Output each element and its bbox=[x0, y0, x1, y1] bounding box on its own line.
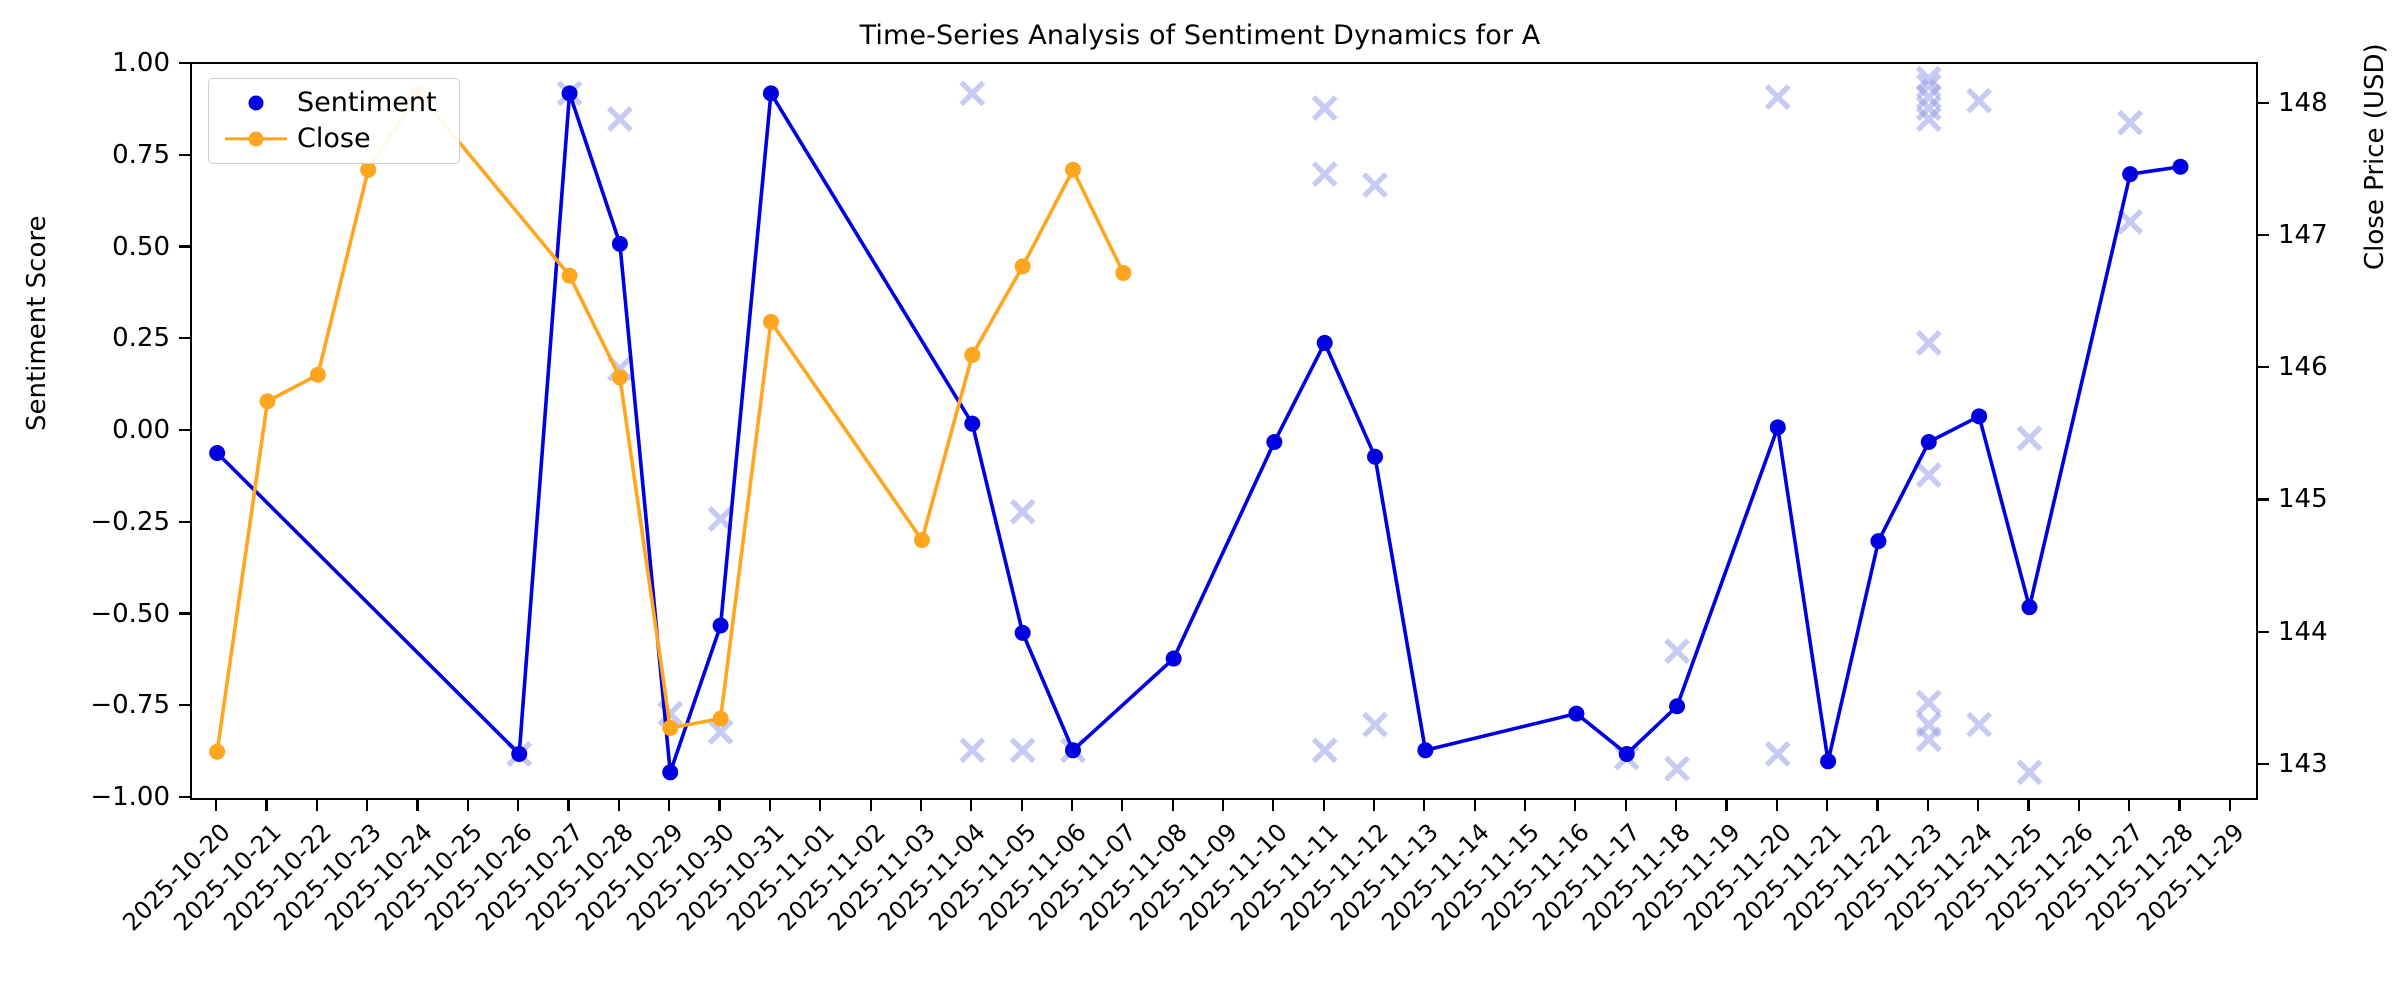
scatter-x-marker bbox=[2018, 427, 2040, 449]
scatter-x-marker bbox=[961, 82, 983, 104]
y-tick-mark-right bbox=[2258, 234, 2269, 236]
x-tick-mark bbox=[1373, 800, 1375, 811]
y-tick-label-left: −0.25 bbox=[30, 507, 170, 537]
scatter-x-marker bbox=[1666, 640, 1688, 662]
data-point-marker bbox=[1870, 533, 1886, 549]
x-tick-mark bbox=[567, 800, 569, 811]
data-point-marker bbox=[360, 162, 376, 178]
x-tick-mark bbox=[1625, 800, 1627, 811]
data-point-marker bbox=[1266, 434, 1282, 450]
x-tick-mark bbox=[1474, 800, 1476, 811]
y-tick-mark-right bbox=[2258, 366, 2269, 368]
data-point-marker bbox=[1417, 742, 1433, 758]
data-point-marker bbox=[2021, 599, 2037, 615]
scatter-x-marker bbox=[1364, 174, 1386, 196]
x-tick-mark bbox=[2128, 800, 2130, 811]
data-point-marker bbox=[562, 85, 578, 101]
legend-key-close bbox=[225, 127, 287, 151]
data-point-marker bbox=[2122, 166, 2138, 182]
x-tick-mark bbox=[618, 800, 620, 811]
x-tick-mark bbox=[1524, 800, 1526, 811]
data-point-marker bbox=[914, 532, 930, 548]
x-tick-mark bbox=[1574, 800, 1576, 811]
y-tick-label-right: 145 bbox=[2278, 484, 2328, 514]
x-tick-mark bbox=[366, 800, 368, 811]
x-tick-mark bbox=[2229, 800, 2231, 811]
x-tick-mark bbox=[316, 800, 318, 811]
y-tick-mark-left bbox=[179, 612, 190, 614]
data-point-marker bbox=[1317, 335, 1333, 351]
circle-marker-icon bbox=[249, 131, 264, 146]
y-tick-mark-left bbox=[179, 521, 190, 523]
scatter-x-marker bbox=[1666, 758, 1688, 780]
data-point-marker bbox=[2172, 159, 2188, 175]
y-axis-right-label: Close Price (USD) bbox=[2360, 43, 2390, 270]
x-tick-mark bbox=[1172, 800, 1174, 811]
x-tick-mark bbox=[215, 800, 217, 811]
scatter-x-marker bbox=[1012, 739, 1034, 761]
y-tick-label-right: 146 bbox=[2278, 352, 2328, 382]
scatter-x-marker bbox=[1314, 739, 1336, 761]
x-tick-mark bbox=[1876, 800, 1878, 811]
scatter-x-marker bbox=[1918, 692, 1940, 714]
data-point-marker bbox=[662, 764, 678, 780]
y-tick-mark-right bbox=[2258, 631, 2269, 633]
page-title: Time-Series Analysis of Sentiment Dynami… bbox=[0, 20, 2400, 51]
x-tick-mark bbox=[1222, 800, 1224, 811]
data-point-marker bbox=[1770, 419, 1786, 435]
data-point-marker bbox=[209, 744, 225, 760]
x-tick-mark bbox=[668, 800, 670, 811]
data-point-marker bbox=[1065, 162, 1081, 178]
x-tick-mark bbox=[1121, 800, 1123, 811]
legend-key-sentiment bbox=[225, 91, 287, 115]
scatter-x-marker bbox=[1767, 743, 1789, 765]
circle-marker-icon bbox=[249, 95, 264, 110]
scatter-x-marker bbox=[1314, 163, 1336, 185]
x-tick-mark bbox=[819, 800, 821, 811]
scatter-x-marker bbox=[1968, 90, 1990, 112]
y-tick-label-left: 1.00 bbox=[30, 48, 170, 78]
data-point-marker bbox=[713, 618, 729, 634]
data-point-marker bbox=[1669, 698, 1685, 714]
data-point-marker bbox=[1568, 706, 1584, 722]
y-tick-mark-left bbox=[179, 704, 190, 706]
scatter-x-marker bbox=[1918, 332, 1940, 354]
y-tick-label-left: 0.00 bbox=[30, 415, 170, 445]
legend-item-close[interactable]: Close bbox=[225, 125, 437, 152]
x-tick-mark bbox=[1272, 800, 1274, 811]
scatter-x-marker bbox=[1918, 728, 1940, 750]
legend-item-sentiment[interactable]: Sentiment bbox=[225, 89, 437, 116]
x-tick-mark bbox=[1776, 800, 1778, 811]
data-point-marker bbox=[964, 416, 980, 432]
scatter-x-marker bbox=[961, 739, 983, 761]
data-point-marker bbox=[1065, 742, 1081, 758]
line-series-close bbox=[209, 85, 1131, 760]
y-tick-label-left: 0.75 bbox=[30, 140, 170, 170]
x-tick-mark bbox=[467, 800, 469, 811]
data-point-marker bbox=[511, 746, 527, 762]
x-tick-mark bbox=[416, 800, 418, 811]
scatter-x-marker bbox=[1968, 714, 1990, 736]
x-tick-mark bbox=[2078, 800, 2080, 811]
data-point-marker bbox=[1619, 746, 1635, 762]
x-tick-mark bbox=[1826, 800, 1828, 811]
data-point-marker bbox=[1115, 265, 1131, 281]
x-tick-mark bbox=[769, 800, 771, 811]
y-tick-mark-left bbox=[179, 796, 190, 798]
data-point-marker bbox=[964, 347, 980, 363]
x-tick-mark bbox=[870, 800, 872, 811]
x-tick-mark bbox=[1725, 800, 1727, 811]
scatter-series-observations bbox=[508, 68, 2141, 784]
series-line bbox=[217, 93, 2180, 772]
x-tick-mark bbox=[970, 800, 972, 811]
y-tick-label-right: 147 bbox=[2278, 220, 2328, 250]
data-point-marker bbox=[209, 445, 225, 461]
x-tick-mark bbox=[1071, 800, 1073, 811]
data-point-marker bbox=[1166, 651, 1182, 667]
data-point-marker bbox=[1921, 434, 1937, 450]
y-tick-mark-left bbox=[179, 154, 190, 156]
scatter-x-marker bbox=[1314, 97, 1336, 119]
x-tick-mark bbox=[1977, 800, 1979, 811]
line-series-sentiment bbox=[209, 85, 2188, 780]
scatter-x-marker bbox=[1918, 464, 1940, 486]
data-point-marker bbox=[562, 268, 578, 284]
y-tick-label-left: −1.00 bbox=[30, 782, 170, 812]
x-tick-mark bbox=[920, 800, 922, 811]
y-tick-label-left: 0.50 bbox=[30, 232, 170, 262]
scatter-x-marker bbox=[1364, 714, 1386, 736]
data-point-marker bbox=[612, 236, 628, 252]
data-point-marker bbox=[1971, 408, 1987, 424]
y-tick-label-right: 144 bbox=[2278, 617, 2328, 647]
series-line bbox=[217, 93, 1123, 752]
x-tick-mark bbox=[2178, 800, 2180, 811]
data-point-marker bbox=[1015, 258, 1031, 274]
y-tick-label-right: 148 bbox=[2278, 88, 2328, 118]
x-tick-mark bbox=[1927, 800, 1929, 811]
x-tick-mark bbox=[718, 800, 720, 811]
y-tick-mark-right bbox=[2258, 498, 2269, 500]
legend-label-close: Close bbox=[297, 125, 371, 152]
scatter-x-marker bbox=[2119, 112, 2141, 134]
chart-legend[interactable]: Sentiment Close bbox=[208, 78, 460, 164]
x-tick-mark bbox=[1021, 800, 1023, 811]
y-tick-mark-left bbox=[179, 245, 190, 247]
x-tick-mark bbox=[2027, 800, 2029, 811]
y-tick-mark-left bbox=[179, 337, 190, 339]
x-tick-mark bbox=[517, 800, 519, 811]
y-tick-mark-right bbox=[2258, 102, 2269, 104]
y-tick-label-left: −0.50 bbox=[30, 599, 170, 629]
data-point-marker bbox=[662, 720, 678, 736]
y-tick-label-left: −0.75 bbox=[30, 690, 170, 720]
data-point-marker bbox=[1367, 449, 1383, 465]
y-tick-mark-left bbox=[179, 62, 190, 64]
x-tick-mark bbox=[1675, 800, 1677, 811]
scatter-x-marker bbox=[609, 108, 631, 130]
x-tick-mark bbox=[1423, 800, 1425, 811]
plot-area: Sentiment Close bbox=[190, 62, 2258, 800]
scatter-x-marker bbox=[2018, 761, 2040, 783]
legend-label-sentiment: Sentiment bbox=[297, 89, 437, 116]
data-point-marker bbox=[713, 711, 729, 727]
chart-canvas bbox=[192, 64, 2256, 798]
data-point-marker bbox=[1820, 753, 1836, 769]
figure-canvas: Time-Series Analysis of Sentiment Dynami… bbox=[0, 0, 2400, 1000]
data-point-marker bbox=[260, 393, 276, 409]
scatter-x-marker bbox=[1767, 86, 1789, 108]
data-point-marker bbox=[612, 369, 628, 385]
y-tick-mark-right bbox=[2258, 763, 2269, 765]
x-tick-mark bbox=[1323, 800, 1325, 811]
x-tick-mark bbox=[265, 800, 267, 811]
data-point-marker bbox=[1015, 625, 1031, 641]
data-point-marker bbox=[763, 85, 779, 101]
y-tick-label-right: 143 bbox=[2278, 749, 2328, 779]
y-tick-mark-left bbox=[179, 429, 190, 431]
data-point-marker bbox=[763, 314, 779, 330]
y-tick-label-left: 0.25 bbox=[30, 323, 170, 353]
scatter-x-marker bbox=[1012, 501, 1034, 523]
data-point-marker bbox=[310, 367, 326, 383]
